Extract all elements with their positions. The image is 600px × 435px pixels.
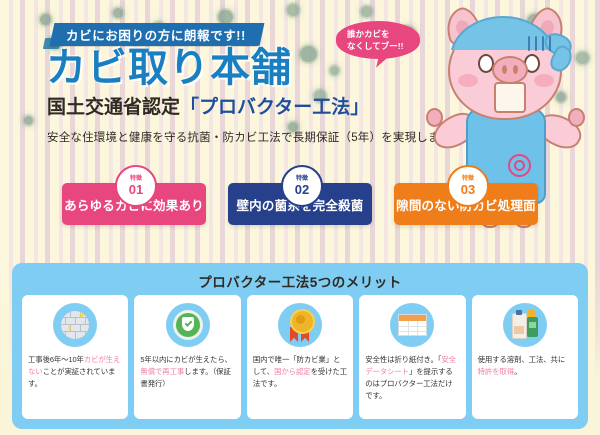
merit-card[interactable]: 5年以内にカビが生えたら、無償で再工事します。（保証書発行） (134, 295, 240, 419)
apron-logo-icon (508, 154, 531, 177)
mold-blob-icon (361, 6, 372, 17)
gold-medal-icon (278, 303, 322, 347)
speech-line-1: 誰かカビを (347, 28, 420, 40)
hero-ribbon-label: カビにお困りの方に朗報です!! (66, 25, 246, 44)
merit-card[interactable]: ✦ ✦ 工事後6年～10年カビが生えないことが実証されています。 (22, 295, 128, 419)
mold-blob-icon (287, 4, 299, 16)
hero-ribbon-banner: カビにお困りの方に朗報です!! (50, 23, 265, 46)
merit-card-text: 工事後6年～10年カビが生えないことが実証されています。 (28, 354, 122, 390)
feature-badge-1: 特徴 01 (115, 165, 157, 207)
pig-cheek-right-icon (534, 74, 554, 87)
hero-subtitle: 国土交通省認定「プロバクター工法」 (47, 98, 369, 117)
merits-panel-title: プロバクター工法5つのメリット (12, 271, 588, 291)
pig-cheek-left-icon (458, 74, 478, 87)
data-table-icon (390, 303, 434, 347)
merit-card-text: 使用する溶剤、工法、共に特許を取得。 (478, 354, 572, 378)
mold-blob-icon (113, 8, 123, 18)
merit-card-text: 安全性は折り紙付き。「安全データシート」を提示するのはプロバクター工法だけです。 (365, 354, 459, 402)
feature-badge-2: 特徴 02 (281, 165, 323, 207)
pig-snout-icon (492, 56, 528, 84)
merit-card[interactable]: 国内で唯一「防カビ業」として、国から認定を受けた工法です。 (247, 295, 353, 419)
mold-blob-icon (300, 46, 317, 62)
merit-card[interactable]: 使用する溶剤、工法、共に特許を取得。 (472, 295, 578, 419)
pig-hoof-right-icon (568, 108, 585, 127)
feature-badge-3: 特徴 03 (447, 165, 489, 207)
green-shield-check-icon (166, 303, 210, 347)
pig-hoof-left-icon (426, 108, 443, 127)
merit-card-text: 5年以内にカビが生えたら、無償で再工事します。（保証書発行） (140, 354, 234, 390)
merits-card-list: ✦ ✦ 工事後6年～10年カビが生えないことが実証されています。 5年以内にカビ… (22, 295, 578, 419)
mold-blob-icon (218, 10, 233, 24)
mold-blob-icon (24, 116, 33, 125)
mold-blob-icon (330, 66, 339, 75)
sweat-lines-icon (528, 36, 554, 52)
page-title: カビ取り本舗 (46, 48, 292, 88)
feature-badge-number-1: 01 (129, 183, 143, 196)
mold-blob-icon (40, 14, 51, 25)
hero-subtitle-method: 「プロバクター工法」 (180, 97, 369, 118)
merits-panel: プロバクター工法5つのメリット ✦ ✦ 工事後6年～10年カビが生えないことが実… (12, 263, 588, 429)
merit-card[interactable]: 安全性は折り紙付き。「安全データシート」を提示するのはプロバクター工法だけです。 (359, 295, 465, 419)
hero-subtitle-prefix: 国土交通省認定 (47, 97, 180, 118)
page-root: カビにお困りの方に朗報です!! カビ取り本舗 国土交通省認定「プロバクター工法」… (0, 0, 600, 435)
cleaning-bottles-icon (503, 303, 547, 347)
feature-badge-number-2: 02 (295, 183, 309, 196)
hero-tagline: 安全な住環境と健康を守る抗菌・防カビ工法で長期保証（5年）を実現しました！ (47, 129, 475, 145)
merit-card-text: 国内で唯一「防カビ業」として、国から認定を受けた工法です。 (253, 354, 347, 390)
mascot-speech-bubble: 誰かカビを なくしてブー!! (336, 21, 420, 59)
sparkling-brick-wall-icon: ✦ ✦ (53, 303, 97, 347)
speech-line-2: なくしてブー!! (347, 40, 420, 52)
feature-badge-number-3: 03 (461, 183, 475, 196)
pig-mouth-icon (494, 82, 526, 113)
